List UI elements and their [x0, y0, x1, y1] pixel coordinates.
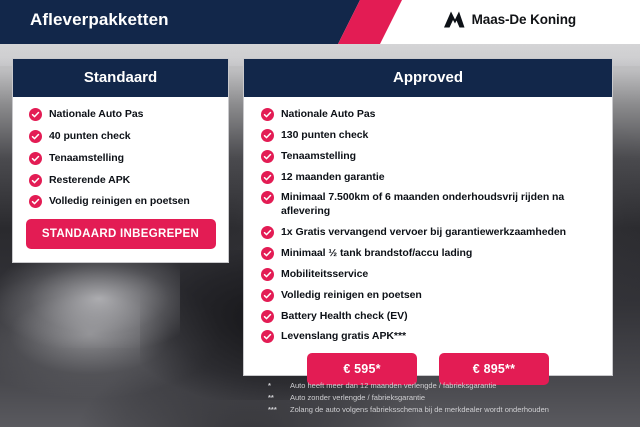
- check-circle-icon: [261, 289, 274, 302]
- check-circle-icon: [261, 247, 274, 260]
- list-item: Nationale Auto Pas: [13, 108, 228, 122]
- list-item-label: 1x Gratis vervangend vervoer bij garanti…: [281, 226, 566, 240]
- brand-lockup: Maas-De Koning: [443, 11, 576, 28]
- list-item: Nationale Auto Pas: [244, 108, 612, 122]
- list-item: Tenaamstelling: [13, 152, 228, 166]
- list-item: Mobiliteitsservice: [244, 268, 612, 282]
- footnote-row: * Auto heeft meer dan 12 maanden verleng…: [268, 380, 618, 392]
- list-item-label: Minimaal 7.500km of 6 maanden onderhouds…: [281, 191, 602, 219]
- list-item: Volledig reinigen en poetsen: [13, 195, 228, 209]
- brand-name: Maas-De Koning: [472, 12, 576, 27]
- footnote-marker: ***: [268, 404, 284, 416]
- check-circle-icon: [29, 152, 42, 165]
- list-item-label: 40 punten check: [49, 130, 131, 144]
- background-highlight: [0, 258, 180, 348]
- check-circle-icon: [261, 310, 274, 323]
- footnote-text: Zolang de auto volgens fabrieksschema bi…: [290, 404, 549, 416]
- check-circle-icon: [29, 130, 42, 143]
- afleverpakketten-page: Afleverpakketten Maas-De Koning Standaar…: [0, 0, 640, 427]
- card-standaard-body: Nationale Auto Pas 40 punten check Tenaa…: [13, 97, 228, 249]
- list-item-label: Nationale Auto Pas: [281, 108, 375, 122]
- list-item-label: Tenaamstelling: [49, 152, 124, 166]
- list-item-label: Tenaamstelling: [281, 150, 356, 164]
- list-item-label: 130 punten check: [281, 129, 368, 143]
- list-item: Resterende APK: [13, 174, 228, 188]
- footnote-text: Auto zonder verlengde / fabrieksgarantie: [290, 392, 425, 404]
- list-item: 1x Gratis vervangend vervoer bij garanti…: [244, 226, 612, 240]
- list-item-label: Resterende APK: [49, 174, 130, 188]
- footnotes: * Auto heeft meer dan 12 maanden verleng…: [268, 380, 618, 416]
- page-header: Afleverpakketten Maas-De Koning: [0, 0, 640, 44]
- list-item-label: Battery Health check (EV): [281, 310, 408, 324]
- check-circle-icon: [261, 129, 274, 142]
- list-item: 130 punten check: [244, 129, 612, 143]
- check-circle-icon: [261, 171, 274, 184]
- check-circle-icon: [29, 174, 42, 187]
- card-standaard-title: Standaard: [13, 59, 228, 97]
- list-item: Volledig reinigen en poetsen: [244, 289, 612, 303]
- list-item-label: Levenslang gratis APK***: [281, 330, 406, 344]
- list-item-label: Nationale Auto Pas: [49, 108, 143, 122]
- list-item: 40 punten check: [13, 130, 228, 144]
- check-circle-icon: [261, 330, 274, 343]
- list-item: Battery Health check (EV): [244, 310, 612, 324]
- feature-list-approved: Nationale Auto Pas 130 punten check Tena…: [244, 108, 612, 344]
- footnote-marker: *: [268, 380, 284, 392]
- check-circle-icon: [261, 268, 274, 281]
- footnote-row: *** Zolang de auto volgens fabrieksschem…: [268, 404, 618, 416]
- maas-de-koning-m-logo-icon: [443, 11, 465, 28]
- footnote-text: Auto heeft meer dan 12 maanden verlengde…: [290, 380, 496, 392]
- list-item-label: Volledig reinigen en poetsen: [49, 195, 190, 209]
- check-circle-icon: [261, 150, 274, 163]
- check-circle-icon: [261, 226, 274, 239]
- check-circle-icon: [261, 191, 274, 204]
- page-title: Afleverpakketten: [30, 10, 169, 30]
- list-item: Levenslang gratis APK***: [244, 330, 612, 344]
- card-standaard: Standaard Nationale Auto Pas 40 punten c…: [12, 58, 229, 263]
- list-item: Tenaamstelling: [244, 150, 612, 164]
- card-approved-body: Nationale Auto Pas 130 punten check Tena…: [244, 97, 612, 389]
- check-circle-icon: [29, 195, 42, 208]
- list-item: 12 maanden garantie: [244, 171, 612, 185]
- footnote-marker: **: [268, 392, 284, 404]
- check-circle-icon: [29, 108, 42, 121]
- feature-list-standaard: Nationale Auto Pas 40 punten check Tenaa…: [13, 108, 228, 209]
- list-item-label: 12 maanden garantie: [281, 171, 385, 185]
- check-circle-icon: [261, 108, 274, 121]
- list-item-label: Mobiliteitsservice: [281, 268, 368, 282]
- list-item: Minimaal ½ tank brandstof/accu lading: [244, 247, 612, 261]
- list-item-label: Volledig reinigen en poetsen: [281, 289, 422, 303]
- card-approved-title: Approved: [244, 59, 612, 97]
- footnote-row: ** Auto zonder verlengde / fabrieksgaran…: [268, 392, 618, 404]
- standaard-inbegrepen-button[interactable]: STANDAARD INBEGREPEN: [26, 219, 216, 249]
- list-item: Minimaal 7.500km of 6 maanden onderhouds…: [244, 191, 612, 219]
- list-item-label: Minimaal ½ tank brandstof/accu lading: [281, 247, 472, 261]
- card-approved: Approved Nationale Auto Pas 130 punten c…: [243, 58, 613, 376]
